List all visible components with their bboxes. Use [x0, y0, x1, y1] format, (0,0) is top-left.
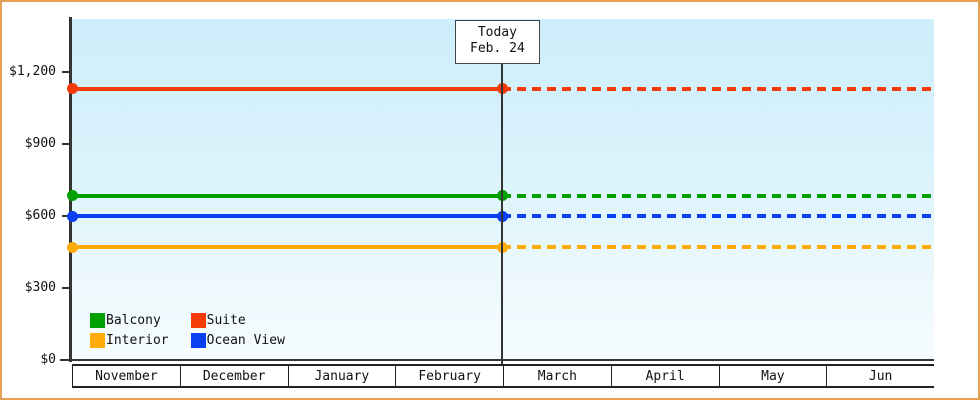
series-line-forecast — [502, 87, 934, 91]
month-axis-cell[interactable]: December — [181, 366, 289, 386]
y-axis-tick — [62, 143, 72, 145]
legend-label: Balcony — [106, 314, 161, 327]
today-annotation-line2: Feb. 24 — [470, 41, 525, 57]
series-line-historical — [72, 87, 502, 91]
y-axis-label: $600 — [25, 209, 56, 222]
legend-color-swatch — [90, 333, 105, 348]
today-annotation-line1: Today — [470, 25, 525, 41]
month-axis-cell[interactable]: March — [504, 366, 612, 386]
month-axis-cell[interactable]: May — [720, 366, 828, 386]
series-line-historical — [72, 194, 502, 198]
month-axis-cell[interactable]: February — [396, 366, 504, 386]
month-axis-cell[interactable]: Jun — [827, 366, 934, 386]
legend-label: Suite — [207, 314, 246, 327]
month-axis-cell[interactable]: April — [612, 366, 720, 386]
series-line-historical — [72, 214, 502, 218]
legend-entry[interactable]: Balcony — [90, 313, 169, 328]
month-axis-cell[interactable]: November — [72, 366, 181, 386]
y-axis-label: $1,200 — [9, 65, 56, 78]
series-marker-start — [67, 242, 78, 253]
series-line-forecast — [502, 214, 934, 218]
legend-entry[interactable]: Interior — [90, 333, 169, 348]
today-vertical-line — [501, 64, 503, 360]
legend-color-swatch — [90, 313, 105, 328]
legend-entry[interactable]: Suite — [191, 313, 285, 328]
chart-legend: BalconySuiteInteriorOcean View — [90, 313, 285, 348]
legend-label: Interior — [106, 334, 169, 347]
series-line-forecast — [502, 194, 934, 198]
month-axis-cell[interactable]: January — [289, 366, 397, 386]
series-marker-start — [67, 211, 78, 222]
y-axis-label: $900 — [25, 137, 56, 150]
y-axis-tick — [62, 71, 72, 73]
legend-entry[interactable]: Ocean View — [191, 333, 285, 348]
series-line-forecast — [502, 245, 934, 249]
legend-color-swatch — [191, 333, 206, 348]
y-axis-tick — [62, 359, 72, 361]
y-axis-label: $300 — [25, 281, 56, 294]
y-axis-label: $0 — [40, 353, 56, 366]
y-axis-tick — [62, 287, 72, 289]
price-trend-chart: $1,200$900$600$300$0 Today Feb. 24 Balco… — [0, 0, 980, 400]
legend-label: Ocean View — [207, 334, 285, 347]
month-axis-table: NovemberDecemberJanuaryFebruaryMarchApri… — [72, 364, 934, 388]
x-axis-line — [60, 359, 934, 361]
series-line-historical — [72, 245, 502, 249]
today-annotation-box: Today Feb. 24 — [455, 20, 540, 64]
legend-color-swatch — [191, 313, 206, 328]
